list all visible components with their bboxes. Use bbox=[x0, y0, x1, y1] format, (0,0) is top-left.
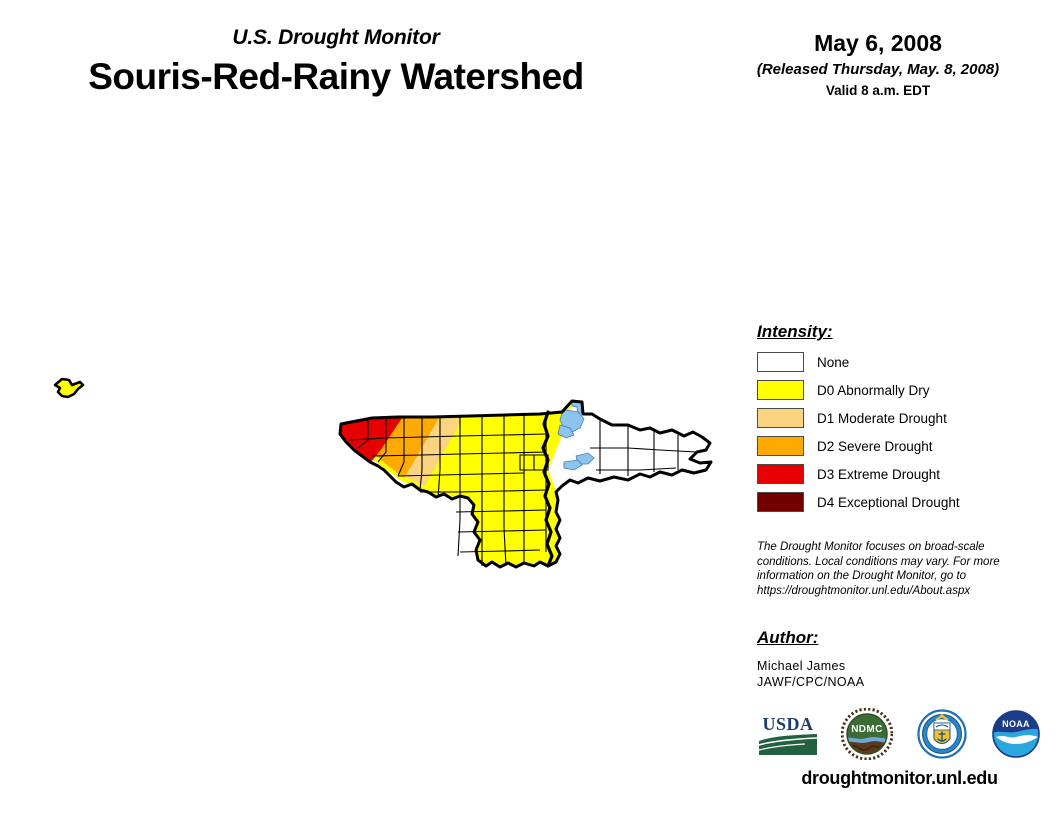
author-block: Author: Michael James JAWF/CPC/NOAA bbox=[757, 628, 1037, 690]
footer-url[interactable]: droughtmonitor.unl.edu bbox=[757, 768, 1042, 789]
disclaimer-about-link[interactable]: https://droughtmonitor.unl.edu/About.asp… bbox=[757, 584, 1019, 599]
usda-logo: USDA bbox=[757, 711, 819, 757]
author-heading: Author: bbox=[757, 628, 1037, 648]
legend-item-d4: D4 Exceptional Drought bbox=[757, 491, 1047, 513]
date-block: May 6, 2008 (Released Thursday, May. 8, … bbox=[700, 30, 1056, 98]
ndmc-logo: NDMC bbox=[841, 708, 893, 760]
legend-swatch-d2 bbox=[757, 436, 804, 456]
author-affiliation: JAWF/CPC/NOAA bbox=[757, 674, 1037, 690]
drought-map[interactable] bbox=[0, 0, 740, 816]
legend-heading: Intensity: bbox=[757, 322, 1047, 342]
legend-item-d2: D2 Severe Drought bbox=[757, 435, 1047, 457]
svg-text:NOAA: NOAA bbox=[1002, 719, 1030, 729]
legend-swatch-d3 bbox=[757, 464, 804, 484]
legend: Intensity: None D0 Abnormally Dry D1 Mod… bbox=[757, 322, 1047, 519]
legend-item-none: None bbox=[757, 351, 1047, 373]
legend-item-d3: D3 Extreme Drought bbox=[757, 463, 1047, 485]
legend-item-d1: D1 Moderate Drought bbox=[757, 407, 1047, 429]
valid-time: Valid 8 a.m. EDT bbox=[700, 83, 1056, 98]
legend-swatch-d0 bbox=[757, 380, 804, 400]
legend-label-d0: D0 Abnormally Dry bbox=[817, 383, 930, 398]
svg-text:NDMC: NDMC bbox=[852, 724, 884, 735]
valid-date: May 6, 2008 bbox=[700, 30, 1056, 57]
disclaimer-line-1: The Drought Monitor focuses on broad-sca… bbox=[757, 540, 1019, 555]
legend-swatch-none bbox=[757, 352, 804, 372]
partner-logos: USDA NDMC bbox=[757, 703, 1042, 765]
legend-swatch-d4 bbox=[757, 492, 804, 512]
disclaimer-line-3: information on the Drought Monitor, go t… bbox=[757, 569, 1019, 584]
watershed-body bbox=[330, 395, 730, 595]
disclaimer-line-2: conditions. Local conditions may vary. F… bbox=[757, 555, 1019, 570]
release-date: (Released Thursday, May. 8, 2008) bbox=[700, 61, 1056, 78]
legend-item-d0: D0 Abnormally Dry bbox=[757, 379, 1047, 401]
legend-swatch-d1 bbox=[757, 408, 804, 428]
legend-label-d3: D3 Extreme Drought bbox=[817, 467, 940, 482]
legend-label-none: None bbox=[817, 355, 849, 370]
noaa-logo: NOAA bbox=[990, 708, 1042, 760]
svg-text:USDA: USDA bbox=[762, 714, 813, 734]
author-name: Michael James bbox=[757, 658, 1037, 674]
legend-label-d4: D4 Exceptional Drought bbox=[817, 495, 960, 510]
legend-label-d1: D1 Moderate Drought bbox=[817, 411, 947, 426]
unl-seal-logo bbox=[916, 708, 968, 760]
map-inset-west bbox=[55, 379, 83, 397]
disclaimer-text: The Drought Monitor focuses on broad-sca… bbox=[757, 540, 1019, 598]
legend-label-d2: D2 Severe Drought bbox=[817, 439, 933, 454]
